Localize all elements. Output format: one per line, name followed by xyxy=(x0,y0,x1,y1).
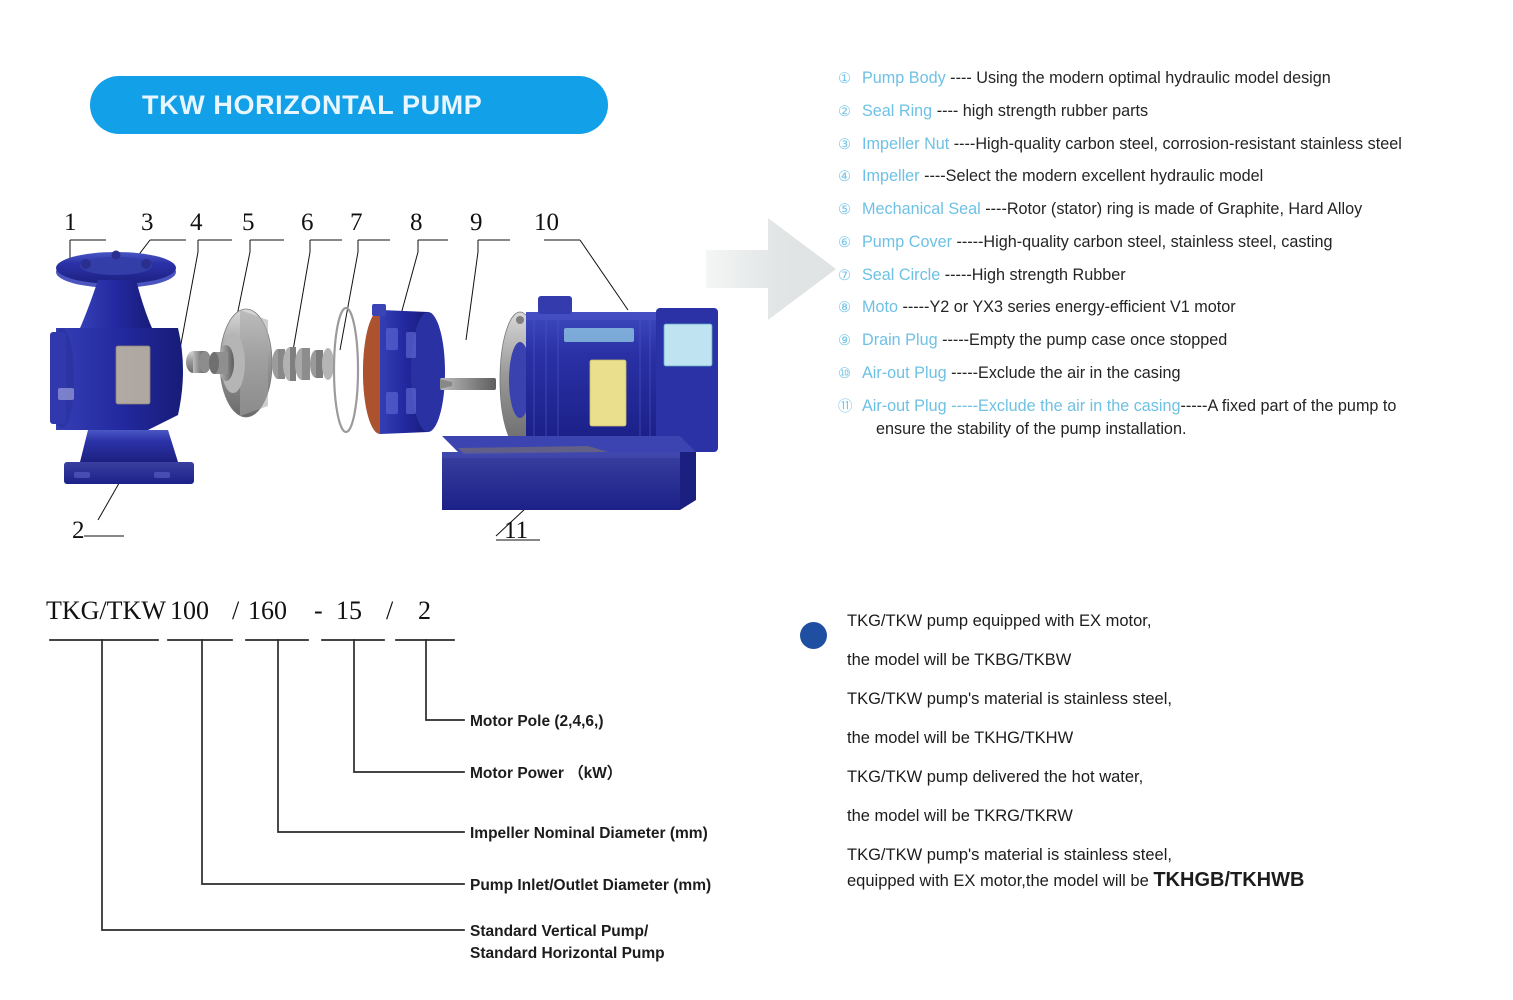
callout-number-3: 3 xyxy=(141,210,154,235)
legend-part-name: Pump Body xyxy=(862,69,946,87)
legend-description: High-quality carbon steel, stainless ste… xyxy=(983,233,1332,251)
legend-description: Empty the pump case once stopped xyxy=(969,331,1227,349)
page-title: TKW HORIZONTAL PUMP xyxy=(142,90,482,121)
legend-part-name: Moto xyxy=(862,298,898,316)
legend-description: High strength Rubber xyxy=(972,266,1126,284)
legend-item-3: ③ Impeller Nut ----High-quality carbon s… xyxy=(838,134,1510,154)
pump-body-part xyxy=(50,251,194,485)
label-pump-inlet-outlet-diameter: Pump Inlet/Outlet Diameter (mm) xyxy=(470,876,711,897)
legend-description: -----A fixed part of the pump to xyxy=(1181,397,1397,415)
legend-item-10: ⑩ Air-out Plug -----Exclude the air in t… xyxy=(838,363,1510,383)
legend-item-6: ⑥ Pump Cover -----High-quality carbon st… xyxy=(838,232,1510,252)
legend-number-icon: ① xyxy=(838,68,862,88)
legend-part-name: Air-out Plug xyxy=(862,397,947,415)
legend-description: High-quality carbon steel, corrosion-res… xyxy=(975,135,1401,153)
callout-number-8: 8 xyxy=(410,210,423,235)
legend-item-4: ④ Impeller ----Select the modern excelle… xyxy=(838,166,1510,186)
parts-legend-list: ① Pump Body ---- Using the modern optima… xyxy=(838,68,1510,452)
legend-description: Exclude the air in the casing xyxy=(978,364,1180,382)
legend-part-name: Impeller xyxy=(862,167,920,185)
callout-number-9: 9 xyxy=(470,210,483,235)
legend-dash: ----- xyxy=(947,397,978,415)
callout-number-5: 5 xyxy=(242,210,255,235)
note-line-2: the model will be TKBG/TKBW xyxy=(847,651,1460,670)
callout-number-4: 4 xyxy=(190,210,203,235)
model-code-leader-lines xyxy=(40,596,740,976)
legend-description: Y2 or YX3 series energy-efficient V1 mot… xyxy=(929,298,1235,316)
note-line-4: the model will be TKHG/TKHW xyxy=(847,729,1460,748)
note-line-1: TKG/TKW pump equipped with EX motor, xyxy=(847,612,1460,631)
legend-item-1: ① Pump Body ---- Using the modern optima… xyxy=(838,68,1510,88)
legend-dash: ---- xyxy=(981,200,1007,218)
note-line-6: the model will be TKRG/TKRW xyxy=(847,807,1460,826)
model-designation-diagram: TKG/TKW 100 / 160 - 15 / 2 Motor Pol xyxy=(40,596,740,976)
callout-number-10: 10 xyxy=(534,210,559,235)
legend-part-name: Impeller Nut xyxy=(862,135,949,153)
legend-dash: ----- xyxy=(940,266,971,284)
base-plate-part xyxy=(442,436,696,510)
legend-item-7: ⑦ Seal Circle -----High strength Rubber xyxy=(838,265,1510,285)
legend-item-2: ② Seal Ring ---- high strength rubber pa… xyxy=(838,101,1510,121)
legend-part-name: Air-out Plug xyxy=(862,364,947,382)
mechanical-seal-part xyxy=(272,347,334,381)
legend-dash: ---- xyxy=(932,102,963,120)
legend-number-icon: ⑤ xyxy=(838,199,862,219)
note-line-8: equipped with EX motor,the model will be… xyxy=(847,869,1460,892)
legend-number-icon: ⑩ xyxy=(838,363,862,383)
callout-number-11: 11 xyxy=(504,518,528,543)
legend-part-name: Drain Plug xyxy=(862,331,938,349)
legend-item-8: ⑧ Moto -----Y2 or YX3 series energy-effi… xyxy=(838,297,1510,317)
legend-dash: ----- xyxy=(898,298,929,316)
legend-part-name: Mechanical Seal xyxy=(862,200,981,218)
legend-dash: ---- xyxy=(920,167,946,185)
callout-number-7: 7 xyxy=(350,210,363,235)
legend-part-name: Pump Cover xyxy=(862,233,952,251)
legend-description: Rotor (stator) ring is made of Graphite,… xyxy=(1007,200,1362,218)
impeller-nut-part xyxy=(186,351,211,373)
label-standard-vertical-pump: Standard Vertical Pump/ xyxy=(470,922,648,943)
legend-description-accent: Exclude the air in the casing xyxy=(978,397,1180,415)
impeller-part xyxy=(209,309,272,417)
legend-number-icon: ⑧ xyxy=(838,297,862,317)
legend-item-11: ⑪ Air-out Plug -----Exclude the air in t… xyxy=(838,396,1510,440)
legend-number-icon: ⑪ xyxy=(838,396,862,416)
model-variant-notes: TKG/TKW pump equipped with EX motor, the… xyxy=(800,612,1460,912)
legend-number-icon: ⑨ xyxy=(838,330,862,350)
callout-number-6: 6 xyxy=(301,210,314,235)
legend-dash: ---- xyxy=(946,69,977,87)
label-motor-pole: Motor Pole (2,4,6,) xyxy=(470,712,604,733)
legend-description-continued: ensure the stability of the pump install… xyxy=(862,419,1510,439)
legend-part-name: Seal Circle xyxy=(862,266,940,284)
exploded-pump-diagram: 1 3 4 5 6 7 8 9 10 2 11 xyxy=(28,200,718,570)
legend-item-9: ⑨ Drain Plug -----Empty the pump case on… xyxy=(838,330,1510,350)
note-line-3: TKG/TKW pump's material is stainless ste… xyxy=(847,690,1460,709)
callout-number-2: 2 xyxy=(72,518,85,543)
legend-dash: ---- xyxy=(949,135,975,153)
callout-number-1: 1 xyxy=(64,210,77,235)
label-standard-horizontal-pump: Standard Horizontal Pump xyxy=(470,944,665,965)
legend-dash: ----- xyxy=(938,331,969,349)
legend-number-icon: ② xyxy=(838,101,862,121)
page-title-banner: TKW HORIZONTAL PUMP xyxy=(90,76,608,134)
legend-dash: ----- xyxy=(952,233,983,251)
seal-circle-part xyxy=(334,308,358,432)
pump-assembly-illustration xyxy=(28,200,718,570)
label-motor-power: Motor Power （kW） xyxy=(470,764,622,785)
legend-number-icon: ⑦ xyxy=(838,265,862,285)
note-line-8-emphasis: TKHGB/TKHWB xyxy=(1153,869,1304,891)
note-line-8-text: equipped with EX motor,the model will be xyxy=(847,872,1153,890)
legend-description: Select the modern excellent hydraulic mo… xyxy=(946,167,1264,185)
flow-arrow xyxy=(706,214,838,324)
legend-number-icon: ④ xyxy=(838,166,862,186)
legend-description: high strength rubber parts xyxy=(963,102,1148,120)
pump-cover-part xyxy=(363,304,445,434)
legend-part-name: Seal Ring xyxy=(862,102,932,120)
bullet-dot-icon xyxy=(800,622,827,649)
note-line-7: TKG/TKW pump's material is stainless ste… xyxy=(847,846,1460,865)
legend-number-icon: ⑥ xyxy=(838,232,862,252)
label-impeller-nominal-diameter: Impeller Nominal Diameter (mm) xyxy=(470,824,708,845)
legend-description: Using the modern optimal hydraulic model… xyxy=(976,69,1331,87)
legend-dash: ----- xyxy=(947,364,978,382)
legend-number-icon: ③ xyxy=(838,134,862,154)
legend-item-5: ⑤ Mechanical Seal ----Rotor (stator) rin… xyxy=(838,199,1510,219)
note-line-5: TKG/TKW pump delivered the hot water, xyxy=(847,768,1460,787)
